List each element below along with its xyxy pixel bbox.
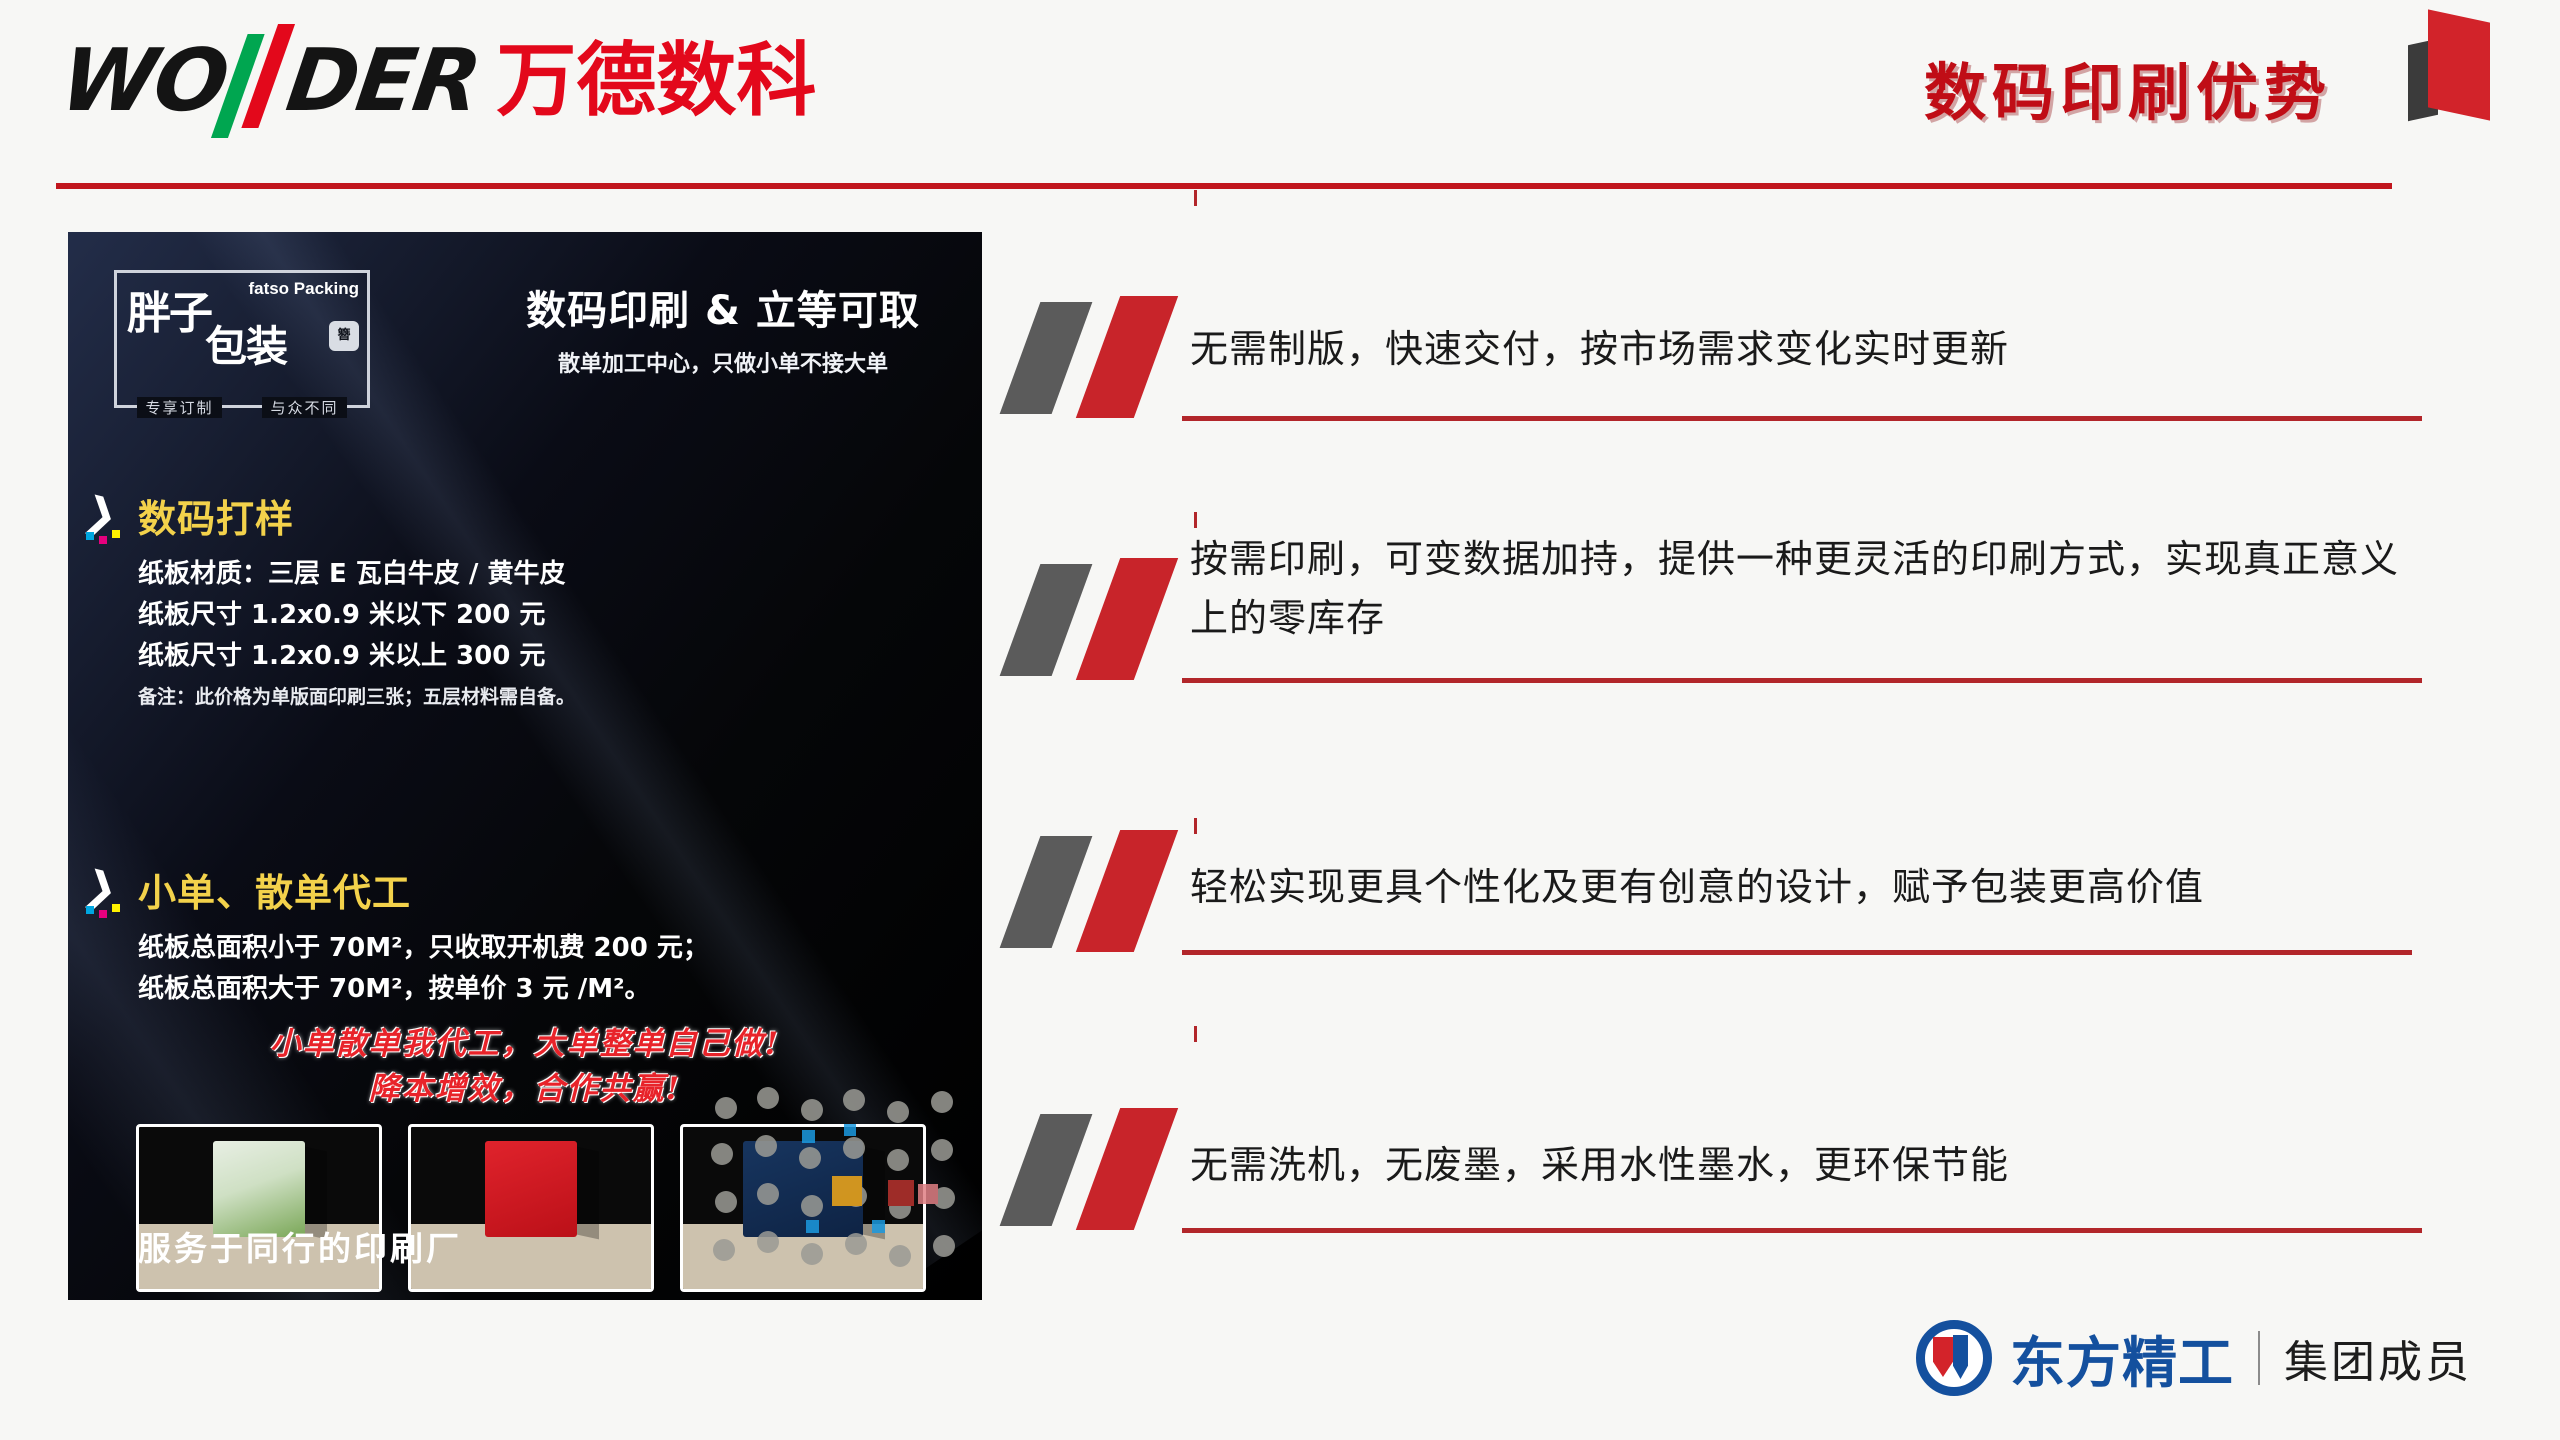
dongfang-jinggong-emblem-icon: [1916, 1320, 1992, 1396]
advantage-underline: [1182, 416, 2422, 421]
fatso-logo-cn-top: 胖子: [127, 277, 211, 341]
page-title: 数码印刷优势: [1924, 42, 2332, 132]
cmyk-dot-yellow: [112, 530, 120, 538]
marker-gray-bar: [1000, 302, 1093, 414]
fatso-packaging-logo: 胖子 fatso Packing 包装 簪 专享订制 与众不同: [114, 270, 370, 408]
section-note: 备注：此价格为单版面印刷三张；五层材料需自备。: [138, 682, 575, 709]
advantage-underline: [1182, 950, 2412, 955]
advantage-text: 无需制版，快速交付，按市场需求变化实时更新: [1190, 320, 2410, 379]
marker-gray-bar: [1000, 836, 1093, 948]
fatso-logo-cn-bottom: 包装: [205, 313, 287, 374]
footer-divider: [2258, 1331, 2260, 1385]
halftone-dot-decoration-icon: [702, 1080, 982, 1300]
advantage-tick-mark: [1194, 818, 1197, 834]
slide-canvas: WO DER 万德数科 数码印刷优势 胖子 fatso Packing 包装 簪…: [0, 0, 2560, 1440]
header-divider: [56, 183, 2392, 189]
emblem-blue-f-mark: [1953, 1335, 1968, 1379]
cmyk-dot-cyan: [86, 532, 94, 540]
promo-poster-image: 胖子 fatso Packing 包装 簪 专享订制 与众不同 数码印刷 & 立…: [68, 232, 982, 1300]
section-line: 纸板材质：三层 E 瓦白牛皮 / 黄牛皮: [138, 555, 575, 594]
marker-red-bar: [1076, 296, 1178, 418]
footer-member-label: 集团成员: [2284, 1326, 2472, 1390]
chevron-arrow-icon: ❯: [80, 864, 136, 920]
footer-company-name: 东方精工: [2010, 1318, 2234, 1398]
brand-logo: WO DER 万德数科: [62, 38, 816, 124]
section-line: 纸板总面积大于 70M²，按单价 3 元 /M²。: [138, 970, 709, 1009]
fatso-tagline-right: 与众不同: [262, 397, 346, 418]
poster-footer-text: 服务于同行的印刷厂: [138, 1222, 462, 1270]
folded-paper-red-panel: [2428, 9, 2490, 120]
brand-wordmark-part-1: WO: [56, 38, 232, 124]
double-slash-marker-icon: [1012, 830, 1182, 952]
poster-subheadline: 散单加工中心，只做小单不接大单: [488, 346, 958, 378]
group-member-footer-logo: 东方精工 集团成员: [1916, 1318, 2472, 1398]
double-slash-marker-icon: [1012, 558, 1182, 680]
advantage-underline: [1182, 1228, 2422, 1233]
fatso-logo-seal-icon: 簪: [329, 321, 359, 351]
fatso-logo-en: fatso Packing: [248, 279, 359, 299]
marker-red-bar: [1076, 830, 1178, 952]
section-line: 纸板尺寸 1.2x0.9 米以下 200 元: [138, 596, 575, 635]
section-title: 小单、散单代工: [138, 862, 709, 917]
poster-section-digital-proofing: ❯ 数码打样 纸板材质：三层 E 瓦白牛皮 / 黄牛皮 纸板尺寸 1.2x0.9…: [138, 488, 575, 709]
advantage-text: 按需印刷，可变数据加持，提供一种更灵活的印刷方式，实现真正意义上的零库存: [1190, 530, 2402, 648]
brand-wordmark-en: WO DER: [56, 38, 484, 124]
poster-section-small-batch-oem: ❯ 小单、散单代工 纸板总面积小于 70M²，只收取开机费 200 元； 纸板总…: [138, 862, 709, 1009]
chevron-arrow-icon: ❯: [80, 490, 136, 546]
advantage-text: 轻松实现更具个性化及更有创意的设计，赋予包装更高价值: [1190, 858, 2410, 917]
cmyk-dot-cyan: [86, 906, 94, 914]
poster-slogan-line-1: 小单散单我代工，大单整单自己做!: [68, 1022, 982, 1067]
fatso-logo-taglines: 专享订制 与众不同: [117, 397, 367, 418]
cmyk-dot-magenta: [99, 910, 107, 918]
advantage-tick-mark: [1194, 512, 1197, 528]
section-title: 数码打样: [138, 488, 575, 543]
poster-headline: 数码印刷 & 立等可取: [488, 278, 958, 336]
advantage-text: 无需洗机，无废墨，采用水性墨水，更环保节能: [1190, 1136, 2410, 1195]
cmyk-dot-yellow: [112, 904, 120, 912]
double-slash-marker-icon: [1012, 296, 1182, 418]
marker-gray-bar: [1000, 564, 1093, 676]
brand-wordmark-n-letter: [220, 38, 294, 124]
brand-wordmark-part-3: DER: [282, 38, 484, 124]
emblem-red-shield: [1933, 1337, 1953, 1377]
fatso-tagline-left: 专享订制: [137, 397, 221, 418]
section-line: 纸板总面积小于 70M²，只收取开机费 200 元；: [138, 929, 709, 968]
marker-red-bar: [1076, 558, 1178, 680]
brand-wordmark-cn: 万德数科: [496, 41, 816, 121]
section-line: 纸板尺寸 1.2x0.9 米以上 300 元: [138, 637, 575, 676]
folded-paper-mark-icon: [2402, 8, 2502, 118]
advantage-tick-mark: [1194, 1026, 1197, 1042]
double-slash-marker-icon: [1012, 1108, 1182, 1230]
cmyk-dot-magenta: [99, 536, 107, 544]
advantage-tick-mark: [1194, 190, 1197, 206]
poster-headline-block: 数码印刷 & 立等可取 散单加工中心，只做小单不接大单: [488, 278, 958, 378]
advantage-underline: [1182, 678, 2422, 683]
marker-red-bar: [1076, 1108, 1178, 1230]
marker-gray-bar: [1000, 1114, 1093, 1226]
